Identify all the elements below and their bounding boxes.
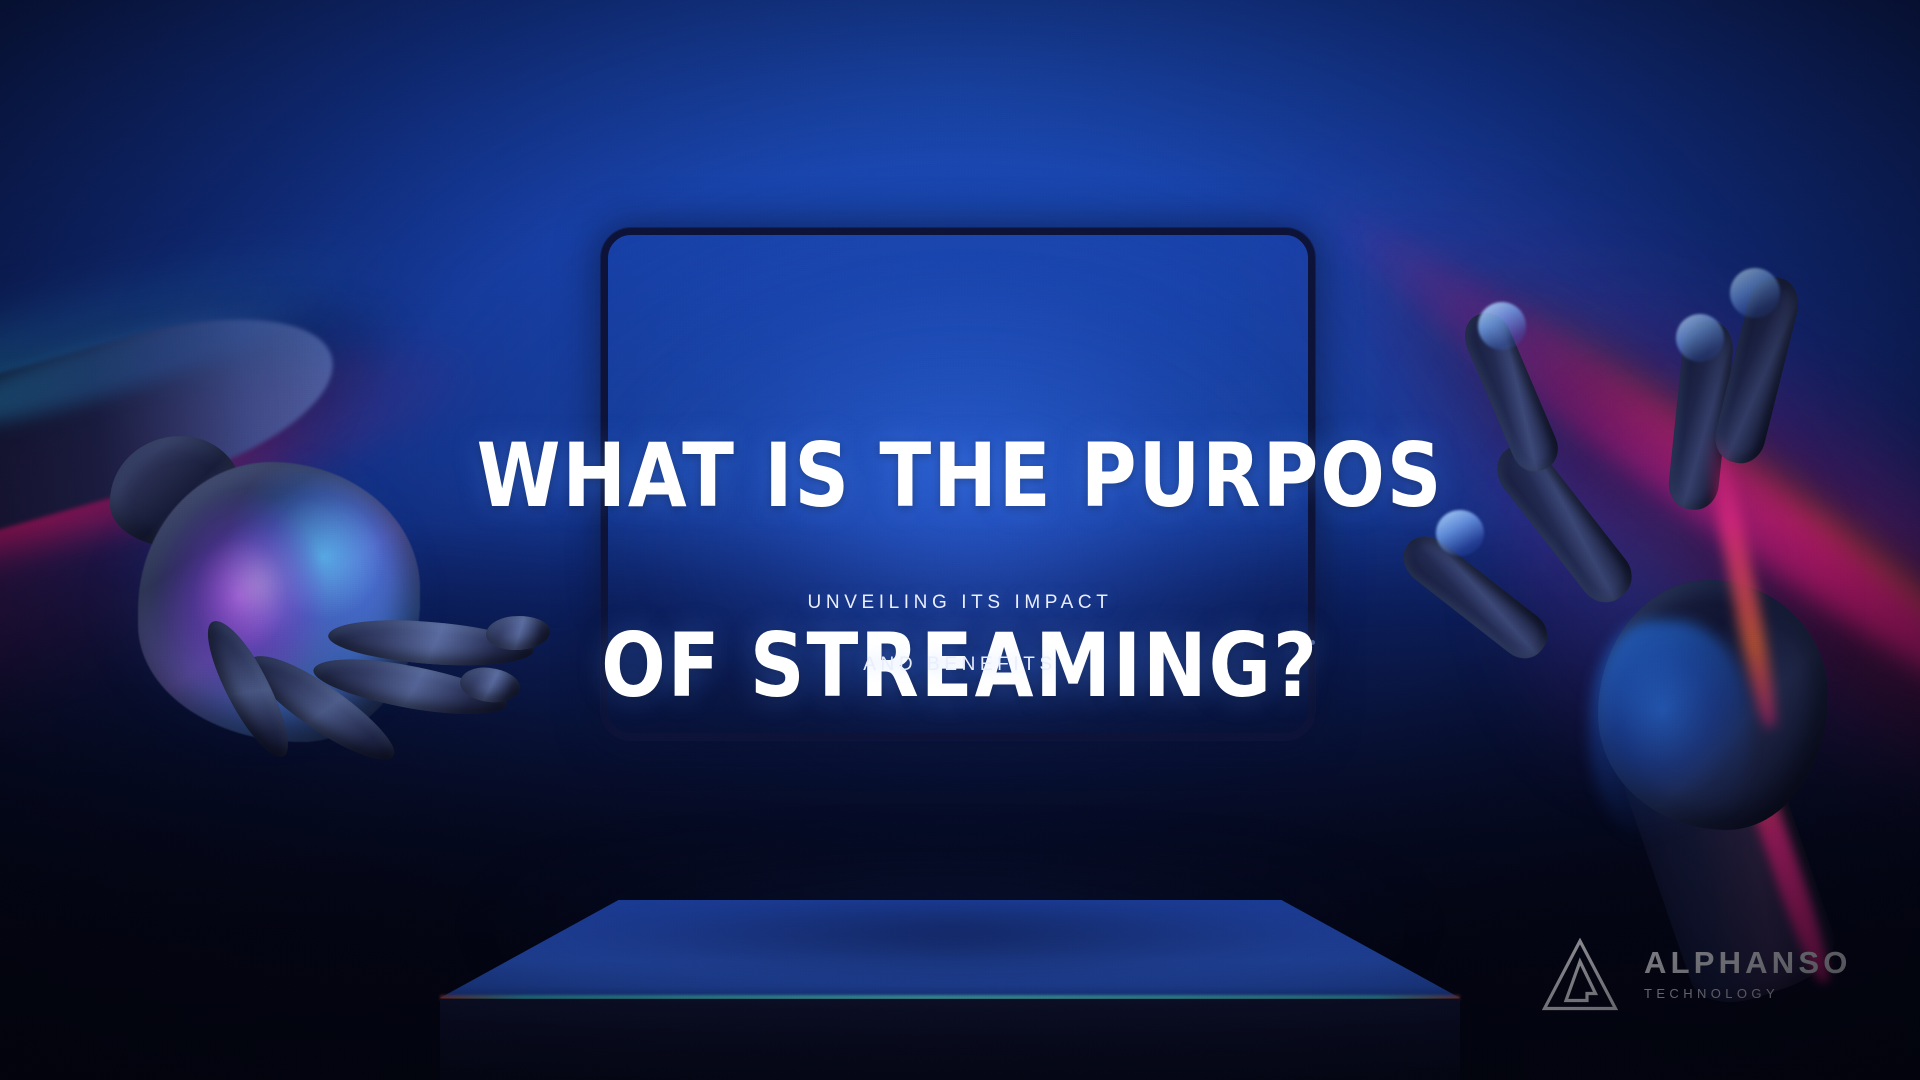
poster-canvas: WHAT IS THE PURPOS OF STREAMING? UNVEILI… (0, 0, 1920, 1080)
film-grain-overlay (0, 0, 1920, 1080)
